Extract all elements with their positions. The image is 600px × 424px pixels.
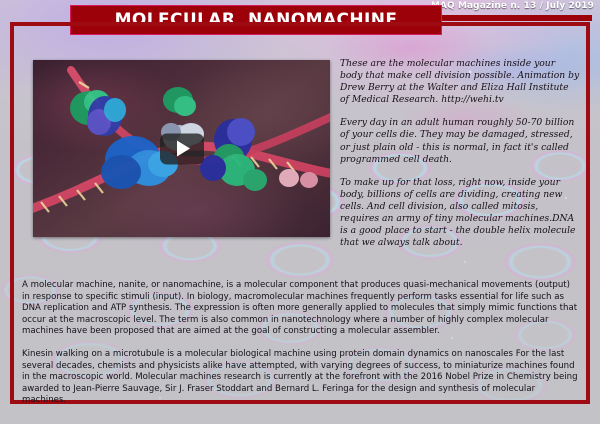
page-title-banner: MOLECULAR NANOMACHINE (70, 5, 442, 35)
caption-paragraph-3: To make up for that loss, right now, ins… (340, 177, 580, 250)
body-paragraph-1: A molecular machine, nanite, or nanomach… (22, 280, 578, 338)
caption-column: These are the molecular machines inside … (340, 58, 580, 249)
caption-paragraph-1: These are the molecular machines inside … (340, 58, 580, 106)
page-title: MOLECULAR NANOMACHINE (115, 10, 398, 30)
masthead-issue-line: MAQ Magazine n. 13 / July 2019 (430, 1, 598, 11)
video-thumbnail[interactable] (33, 60, 330, 237)
caption-paragraph-2: Every day in an adult human roughly 50-7… (340, 117, 580, 165)
body-paragraph-2: Kinesin walking on a microtubule is a mo… (22, 349, 578, 407)
play-button[interactable] (160, 133, 204, 164)
title-rule (442, 15, 592, 21)
body-column: A molecular machine, nanite, or nanomach… (22, 280, 578, 407)
play-triangle-icon (177, 141, 190, 157)
magazine-page: MAQ Magazine n. 13 / July 2019 MOLECULAR… (0, 0, 600, 424)
